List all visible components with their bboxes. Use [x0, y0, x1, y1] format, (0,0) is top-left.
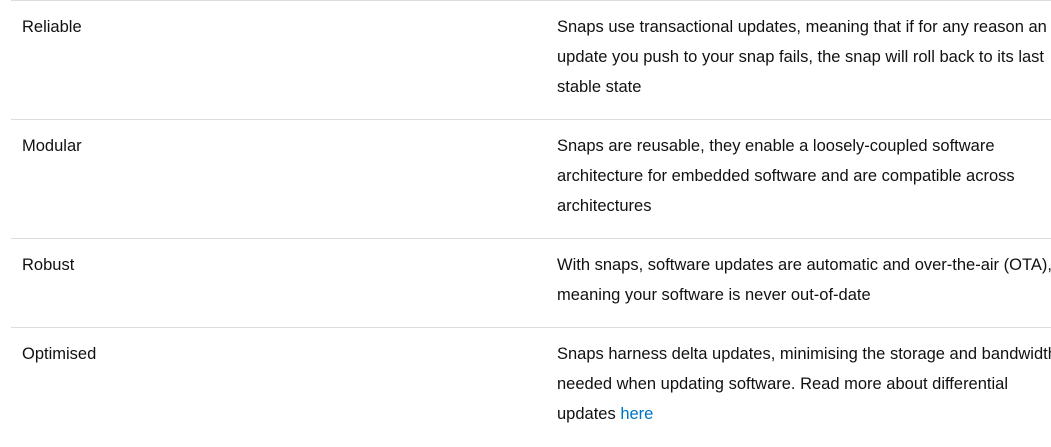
feature-name-optimised: Optimised [22, 345, 96, 363]
feature-name-modular: Modular [22, 137, 82, 155]
table-row: Optimised Snaps harness delta updates, m… [11, 328, 1051, 447]
feature-description-cell: Snaps harness delta updates, minimising … [557, 328, 1051, 447]
feature-name-cell: Reliable [11, 1, 557, 120]
feature-description-modular: Snaps are reusable, they enable a loosel… [557, 137, 1015, 215]
feature-description-cell: Snaps are reusable, they enable a loosel… [557, 120, 1051, 239]
feature-description-cell: Snaps use transactional updates, meaning… [557, 1, 1051, 120]
feature-description-cell: With snaps, software updates are automat… [557, 239, 1051, 328]
feature-name-cell: Robust [11, 239, 557, 328]
differential-updates-link[interactable]: here [620, 405, 653, 423]
feature-description-robust: With snaps, software updates are automat… [557, 256, 1051, 304]
feature-name-cell: Modular [11, 120, 557, 239]
features-table-body: Reliable Snaps use transactional updates… [11, 1, 1051, 447]
feature-description-reliable: Snaps use transactional updates, meaning… [557, 18, 1047, 96]
table-row: Robust With snaps, software updates are … [11, 239, 1051, 328]
feature-name-robust: Robust [22, 256, 74, 274]
snap-features-table: Reliable Snaps use transactional updates… [11, 0, 1051, 447]
feature-name-reliable: Reliable [22, 18, 82, 36]
feature-name-cell: Optimised [11, 328, 557, 447]
table-row: Modular Snaps are reusable, they enable … [11, 120, 1051, 239]
table-row: Reliable Snaps use transactional updates… [11, 1, 1051, 120]
